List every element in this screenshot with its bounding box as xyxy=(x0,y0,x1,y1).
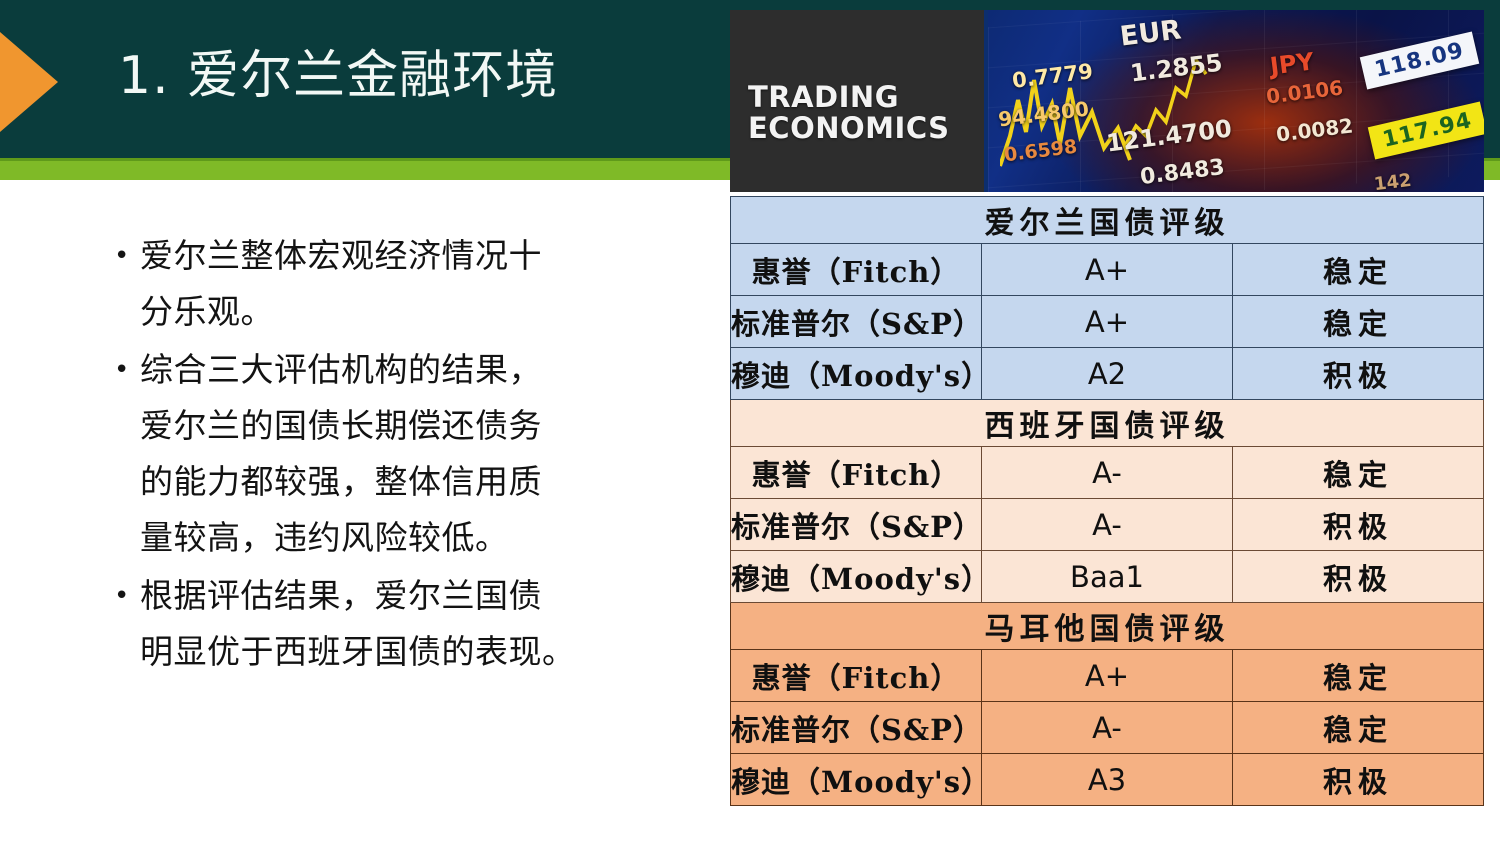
section-header-label: 西班牙国债评级 xyxy=(731,400,1484,447)
cell-grade: Baa1 xyxy=(982,551,1233,603)
bullet-list: • 爱尔兰整体宏观经济情况十 分乐观。 • 综合三大评估机构的结果， 爱尔兰的国… xyxy=(100,228,700,682)
photo-label-last: 142 xyxy=(1373,170,1413,192)
list-item: • 根据评估结果，爱尔兰国债 明显优于西班牙国债的表现。 xyxy=(100,568,700,680)
chevron-right-icon xyxy=(0,32,58,132)
table-row: 惠誉（Fitch） A- 稳定 xyxy=(731,447,1484,499)
cell-grade: A- xyxy=(982,447,1233,499)
table-row: 标准普尔（S&P） A+ 稳定 xyxy=(731,296,1484,348)
cell-agency: 惠誉（Fitch） xyxy=(731,244,982,296)
logo-line-1: TRADING xyxy=(748,82,950,113)
cell-agency: 标准普尔（S&P） xyxy=(731,296,982,348)
list-item: • 综合三大评估机构的结果， 爱尔兰的国债长期偿还债务 的能力都较强，整体信用质… xyxy=(100,342,700,566)
bullet-marker-icon: • xyxy=(100,568,140,624)
bullet-marker-icon: • xyxy=(100,228,140,284)
banner-divider xyxy=(984,10,988,192)
trading-economics-logo: TRADING ECONOMICS xyxy=(748,82,950,144)
table-section-header-malta: 马耳他国债评级 xyxy=(731,603,1484,650)
logo-line-2: ECONOMICS xyxy=(748,113,950,144)
bullet-line: 爱尔兰整体宏观经济情况十 xyxy=(140,228,700,284)
page-title: 1. 爱尔兰金融环境 xyxy=(118,38,738,114)
cell-agency: 穆迪（Moody's） xyxy=(731,754,982,806)
bullet-line: 的能力都较强，整体信用质 xyxy=(140,454,700,510)
cell-outlook: 稳定 xyxy=(1233,702,1484,754)
bullet-text: 爱尔兰整体宏观经济情况十 分乐观。 xyxy=(140,228,700,340)
cell-grade: A+ xyxy=(982,296,1233,348)
section-header-label: 爱尔兰国债评级 xyxy=(731,197,1484,244)
cell-agency: 穆迪（Moody's） xyxy=(731,551,982,603)
cell-grade: A2 xyxy=(982,348,1233,400)
sovereign-ratings-table: 爱尔兰国债评级 惠誉（Fitch） A+ 稳定 标准普尔（S&P） A+ 稳定 … xyxy=(730,196,1484,806)
table-row: 标准普尔（S&P） A- 稳定 xyxy=(731,702,1484,754)
cell-grade: A+ xyxy=(982,650,1233,702)
cell-outlook: 积极 xyxy=(1233,499,1484,551)
photo-label-jpy: JPY xyxy=(1268,47,1315,80)
cell-agency: 标准普尔（S&P） xyxy=(731,499,982,551)
cell-outlook: 稳定 xyxy=(1233,244,1484,296)
cell-outlook: 稳定 xyxy=(1233,296,1484,348)
cell-grade: A3 xyxy=(982,754,1233,806)
cell-outlook: 稳定 xyxy=(1233,447,1484,499)
table-row: 穆迪（Moody's） A2 积极 xyxy=(731,348,1484,400)
cell-outlook: 积极 xyxy=(1233,348,1484,400)
table-row: 惠誉（Fitch） A+ 稳定 xyxy=(731,650,1484,702)
bullet-line: 分乐观。 xyxy=(140,284,700,340)
cell-grade: A- xyxy=(982,499,1233,551)
cell-agency: 惠誉（Fitch） xyxy=(731,447,982,499)
table-row: 穆迪（Moody's） A3 积极 xyxy=(731,754,1484,806)
table-row: 穆迪（Moody's） Baa1 积极 xyxy=(731,551,1484,603)
cell-grade: A- xyxy=(982,702,1233,754)
cell-grade: A+ xyxy=(982,244,1233,296)
forex-ticker-photo: EUR 1.2855 121.4700 0.8483 0.7779 94.480… xyxy=(988,10,1484,192)
cell-outlook: 积极 xyxy=(1233,551,1484,603)
bullet-text: 综合三大评估机构的结果， 爱尔兰的国债长期偿还债务 的能力都较强，整体信用质 量… xyxy=(140,342,700,566)
table-row: 惠誉（Fitch） A+ 稳定 xyxy=(731,244,1484,296)
table-row: 标准普尔（S&P） A- 积极 xyxy=(731,499,1484,551)
cell-agency: 标准普尔（S&P） xyxy=(731,702,982,754)
trading-economics-banner: TRADING ECONOMICS EUR 1.2855 121.4700 0.… xyxy=(730,10,1484,192)
bullet-marker-icon: • xyxy=(100,342,140,398)
bullet-line: 综合三大评估机构的结果， xyxy=(140,342,700,398)
right-content-panel: TRADING ECONOMICS EUR 1.2855 121.4700 0.… xyxy=(730,10,1484,806)
cell-outlook: 积极 xyxy=(1233,754,1484,806)
cell-outlook: 稳定 xyxy=(1233,650,1484,702)
cell-agency: 惠誉（Fitch） xyxy=(731,650,982,702)
table-section-header-ireland: 爱尔兰国债评级 xyxy=(731,197,1484,244)
bullet-line: 根据评估结果，爱尔兰国债 xyxy=(140,568,700,624)
list-item: • 爱尔兰整体宏观经济情况十 分乐观。 xyxy=(100,228,700,340)
cell-agency: 穆迪（Moody's） xyxy=(731,348,982,400)
section-header-label: 马耳他国债评级 xyxy=(731,603,1484,650)
bullet-line: 爱尔兰的国债长期偿还债务 xyxy=(140,398,700,454)
bullet-line: 明显优于西班牙国债的表现。 xyxy=(140,624,700,680)
bullet-text: 根据评估结果，爱尔兰国债 明显优于西班牙国债的表现。 xyxy=(140,568,700,680)
bullet-line: 量较高，违约风险较低。 xyxy=(140,510,700,566)
table-section-header-spain: 西班牙国债评级 xyxy=(731,400,1484,447)
